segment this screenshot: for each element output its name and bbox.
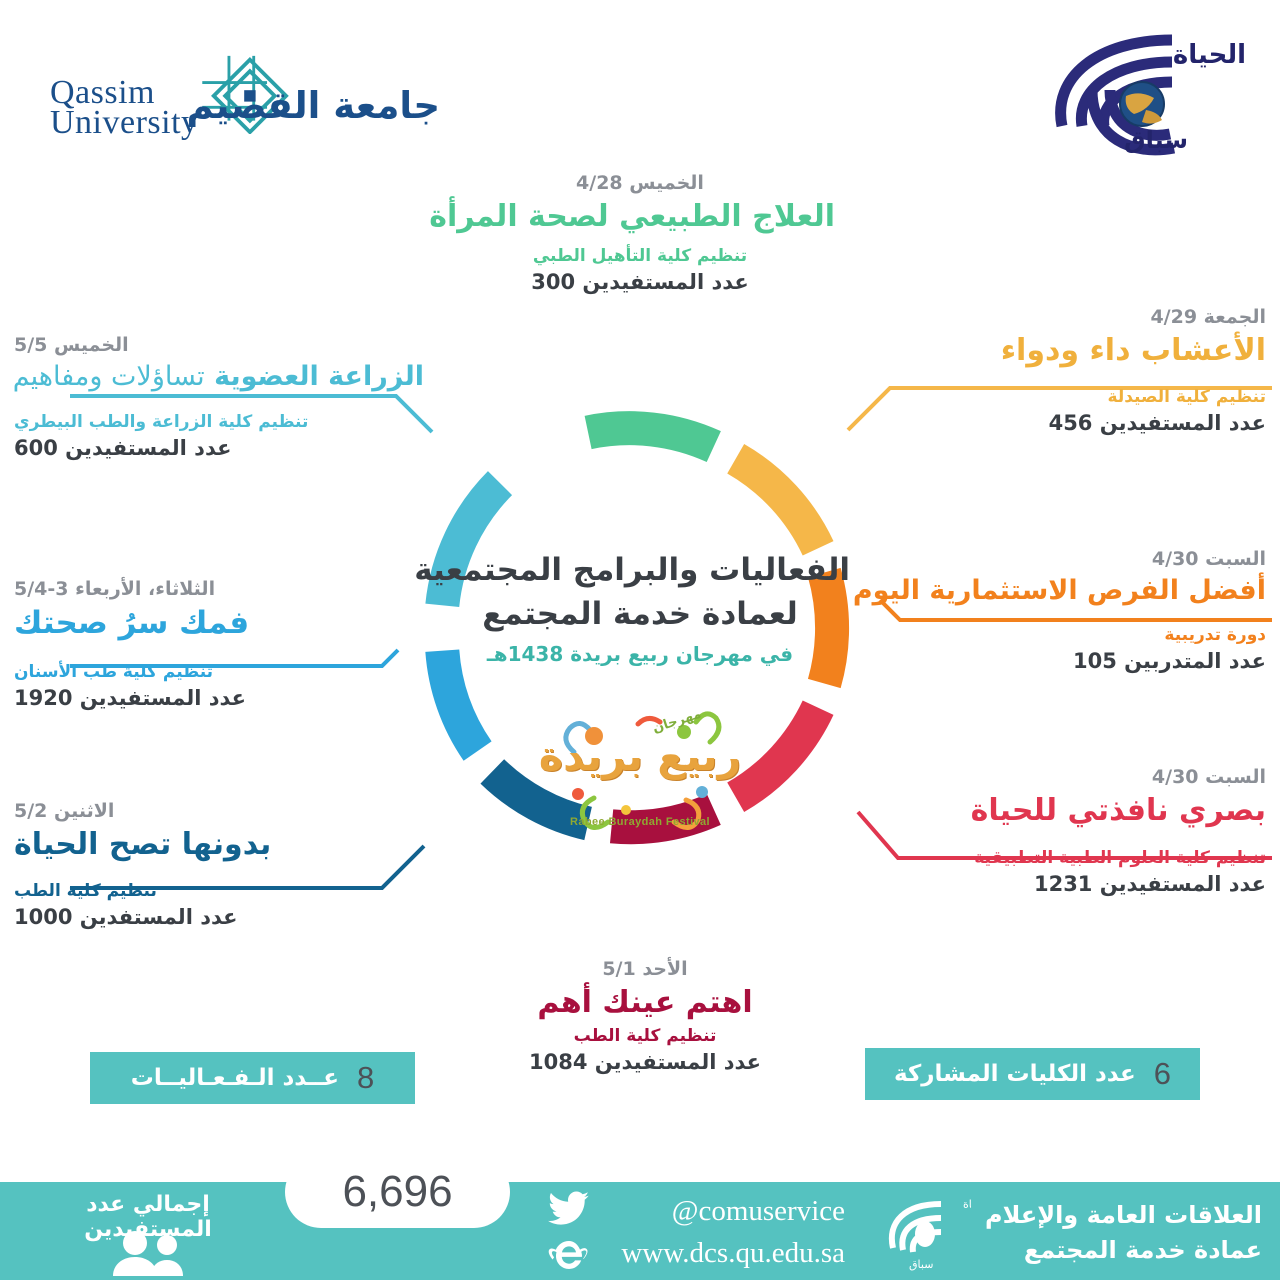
event-title: الأعشاب داء ودواء	[876, 331, 1266, 370]
event-title: أفضل الفرص الاستثمارية اليوم	[876, 573, 1266, 608]
event-title-light: تساؤلات ومفاهيم	[13, 361, 205, 392]
twitter-bird-icon[interactable]	[548, 1190, 590, 1226]
event-org: تنظيم كلية الزراعة والطب البيطري	[14, 411, 424, 434]
internet-explorer-icon[interactable]	[548, 1237, 590, 1275]
stat-colleges-label: عدد الكليات المشاركة	[894, 1061, 1136, 1087]
ring-segment-vision	[736, 708, 818, 798]
footer-twitter-row[interactable]: @comuservice	[621, 1190, 845, 1232]
event-count: عدد المستفيدين 1920	[14, 685, 404, 712]
event-count: عدد المستفيدين 1231	[876, 871, 1266, 898]
event-date: الخميس 5/5	[14, 334, 424, 358]
event-count: عدد المستفدين 1000	[14, 904, 404, 931]
event-date: السبت 4/30	[876, 548, 1266, 572]
event-title: اهتم عينك أهم	[455, 983, 835, 1022]
event-vision: السبت 4/30 بصري نافذتي للحياة تنظيم كلية…	[876, 766, 1266, 898]
event-count: عدد المستفيدين 600	[14, 435, 424, 462]
infographic-canvas: Qassim University جامعة القصيم الحياة سب…	[0, 0, 1280, 1280]
stat-colleges-count: 6 عدد الكليات المشاركة	[865, 1048, 1200, 1100]
stat-events-count: 8 عــدد الـفـعـاليــات	[90, 1052, 415, 1104]
footer-department: العلاقات العامة والإعلام عمادة خدمة المج…	[875, 1194, 1262, 1272]
ring-segment-herbs	[736, 459, 818, 549]
event-dental: الثلاثاء، الأربعاء 3-5/4 فمك سرُ صحتك تن…	[14, 578, 404, 712]
qassim-university-logo: Qassim University جامعة القصيم	[40, 36, 440, 146]
center-title-line2: لعمادة خدمة المجتمع	[430, 592, 850, 636]
stat-colleges-value: 6	[1154, 1056, 1171, 1092]
race-of-life-bottom-word: سباق	[1124, 126, 1188, 154]
footer-bar: العلاقات العامة والإعلام عمادة خدمة المج…	[0, 1182, 1280, 1280]
ring-segment-physio-women	[588, 428, 714, 446]
university-name-en-line2: University	[50, 108, 199, 138]
event-herbs: الجمعة 4/29 الأعشاب داء ودواء تنظيم كلية…	[876, 306, 1266, 437]
twitter-handle[interactable]: @comuservice	[672, 1190, 845, 1232]
event-title: فمك سرُ صحتك	[14, 603, 404, 643]
event-org: تنظيم كلية طب الأسنان	[14, 661, 404, 684]
event-date: الأحد 5/1	[455, 958, 835, 982]
event-count: عدد المستفيدين 456	[876, 410, 1266, 437]
race-of-life-top-word: الحياة	[1173, 40, 1246, 70]
total-beneficiaries-pill: 6,696	[285, 1156, 510, 1228]
footer-contacts: @comuservice www.dcs.qu.edu.sa	[621, 1190, 845, 1274]
event-org: تنظيم كلية الطب	[455, 1025, 835, 1048]
rabee-buraydah-festival-logo: مهرجان ربيع بريدة Rabee Buraydah Festiva…	[534, 706, 746, 832]
event-date: الاثنين 5/2	[14, 800, 404, 824]
race-of-life-footer-logo-icon: الحياة سباق	[875, 1194, 971, 1272]
event-title: الزراعة العضوية تساؤلات ومفاهيم	[14, 359, 424, 394]
svg-text:الحياة: الحياة	[963, 1198, 971, 1211]
center-subtitle: في مهرجان ربيع بريدة 1438هـ	[430, 642, 850, 666]
event-count: عدد المستفيدين 300	[445, 269, 835, 296]
total-beneficiaries-value: 6,696	[342, 1167, 452, 1217]
event-organic-farming: الخميس 5/5 الزراعة العضوية تساؤلات ومفاه…	[14, 334, 424, 462]
event-org: تنظيم كلية الطب	[14, 880, 404, 903]
event-title: بصري نافذتي للحياة	[876, 791, 1266, 830]
event-org: تنظيم كلية العلوم الطبية التطبيقية	[876, 847, 1266, 870]
event-physio-women: الخميس 4/28 العلاج الطبيعي لصحة المرأة ت…	[445, 172, 835, 296]
stat-events-value: 8	[357, 1060, 374, 1096]
footer-dept-line1: العلاقات العامة والإعلام	[985, 1198, 1262, 1233]
footer-website-row[interactable]: www.dcs.qu.edu.sa	[621, 1232, 845, 1274]
center-title-block: الفعاليات والبرامج المجتمعية لعمادة خدمة…	[430, 548, 850, 666]
event-title: العلاج الطبيعي لصحة المرأة	[445, 197, 835, 236]
website-url[interactable]: www.dcs.qu.edu.sa	[621, 1232, 845, 1274]
event-org: دورة تدريبية	[876, 624, 1266, 647]
event-date: الثلاثاء، الأربعاء 3-5/4	[14, 578, 404, 602]
event-without-life: الاثنين 5/2 بدونها تصح الحياة تنظيم كلية…	[14, 800, 404, 931]
festival-subtitle: Rabee Buraydah Festival	[534, 816, 746, 828]
event-date: الجمعة 4/29	[876, 306, 1266, 330]
svg-text:سباق: سباق	[909, 1258, 933, 1271]
event-count: عدد المتدربين 105	[876, 648, 1266, 675]
event-date: السبت 4/30	[876, 766, 1266, 790]
event-title-strong: الزراعة العضوية	[214, 361, 424, 392]
university-name-ar: جامعة القصيم	[187, 84, 440, 127]
event-date: الخميس 4/28	[445, 172, 835, 196]
race-of-life-logo: الحياة سباق	[1022, 18, 1252, 168]
event-title: بدونها تصح الحياة	[14, 825, 404, 864]
footer-dept-line2: عمادة خدمة المجتمع	[985, 1233, 1262, 1268]
event-org: تنظيم كلية الصيدلة	[876, 386, 1266, 409]
university-name-en: Qassim University	[50, 78, 199, 138]
event-eye-care: الأحد 5/1 اهتم عينك أهم تنظيم كلية الطب …	[455, 958, 835, 1076]
festival-word-main: ربيع بريدة	[534, 732, 746, 780]
event-investment: السبت 4/30 أفضل الفرص الاستثمارية اليوم …	[876, 548, 1266, 675]
stat-events-label: عــدد الـفـعـاليــات	[131, 1065, 339, 1091]
center-title-line1: الفعاليات والبرامج المجتمعية	[430, 548, 850, 592]
event-org: تنظيم كلية التأهيل الطبي	[445, 245, 835, 268]
people-icon	[105, 1230, 191, 1276]
event-count: عدد المستفيدين 1084	[455, 1049, 835, 1076]
